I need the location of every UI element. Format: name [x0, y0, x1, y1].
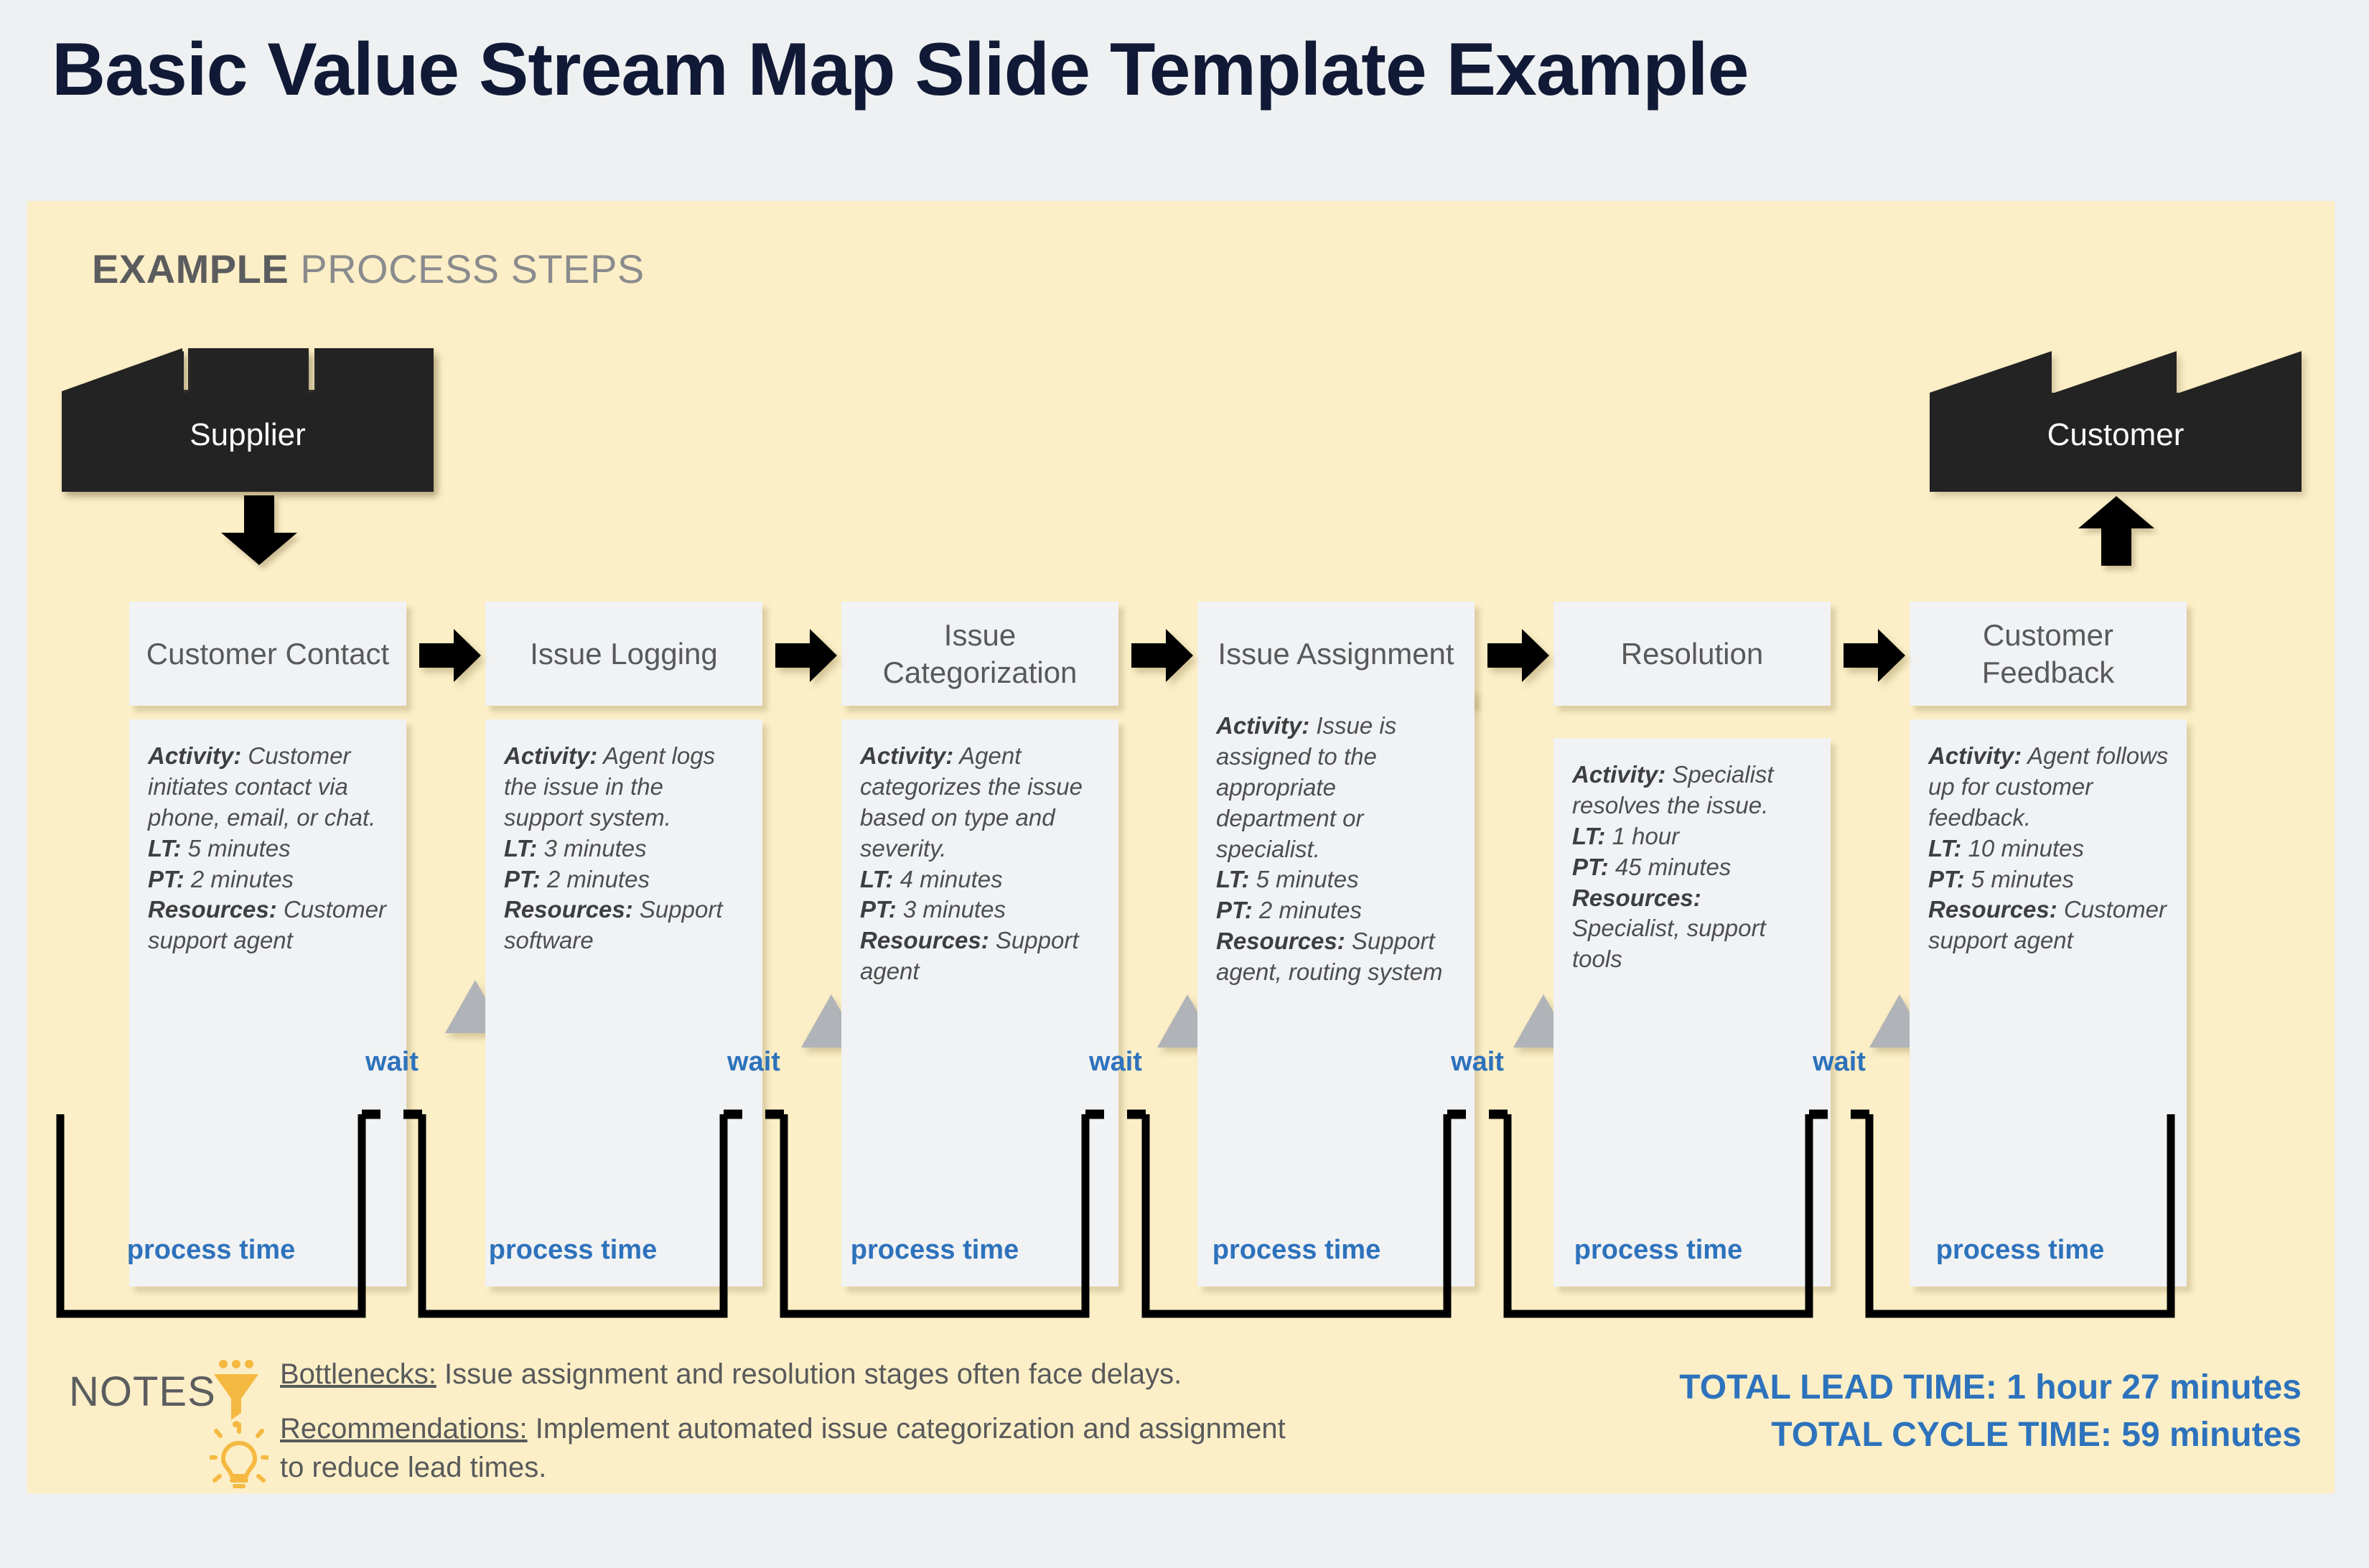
detail-activity: Activity: Issue is assigned to the appro…	[1216, 711, 1457, 864]
detail-lt-text: 3 minutes	[537, 835, 646, 862]
flow-arrow-1	[419, 629, 481, 682]
process-time-label-2: process time	[422, 1235, 724, 1266]
notes-heading: NOTES	[69, 1368, 216, 1416]
detail-resources-text: Specialist, support tools	[1572, 915, 1766, 972]
detail-lt-label: LT:	[148, 835, 181, 862]
detail-pt-text: 2 minutes	[184, 866, 294, 892]
detail-pt-text: 45 minutes	[1609, 854, 1732, 880]
detail-lt-label: LT:	[1216, 866, 1249, 892]
detail-activity-label: Activity:	[1572, 761, 1665, 788]
note-body: Issue assignment and resolution stages o…	[436, 1358, 1182, 1390]
detail-activity-label: Activity:	[1216, 712, 1309, 739]
detail-lt: LT: 4 minutes	[860, 864, 1101, 895]
step-box-issue-categorization[interactable]: Issue Categorization	[841, 602, 1118, 706]
timeline-ladder: wait wait wait wait wait process time pr…	[27, 1098, 2335, 1343]
step-box-issue-logging[interactable]: Issue Logging	[485, 602, 762, 706]
detail-lt: LT: 5 minutes	[148, 834, 389, 864]
detail-resources-label: Resources:	[148, 896, 277, 923]
wait-label-2: wait	[704, 1047, 804, 1078]
detail-resources: Resources: Support agent	[860, 925, 1101, 987]
total-lead-time: TOTAL LEAD TIME: 1 hour 27 minutes	[1679, 1364, 2302, 1411]
process-time-label-4: process time	[1146, 1235, 1447, 1266]
detail-activity-label: Activity:	[860, 742, 953, 769]
section-heading-light: PROCESS STEPS	[289, 246, 645, 291]
detail-lt: LT: 1 hour	[1572, 821, 1813, 852]
detail-activity: Activity: Agent logs the issue in the su…	[504, 741, 745, 834]
flow-arrow-4	[1487, 629, 1549, 682]
detail-activity: Activity: Customer initiates contact via…	[148, 741, 389, 834]
step-title: Customer Feedback	[1917, 617, 2179, 690]
arrow-right-icon	[1487, 629, 1549, 682]
supplier-flow-arrow	[220, 495, 299, 566]
detail-lt-label: LT:	[1572, 823, 1605, 849]
detail-pt-label: PT:	[1572, 854, 1609, 880]
detail-lt-label: LT:	[1928, 835, 1961, 862]
arrow-right-icon	[775, 629, 837, 682]
step-title: Issue Categorization	[849, 617, 1111, 690]
arrow-right-icon	[1131, 629, 1193, 682]
flow-arrow-3	[1131, 629, 1193, 682]
detail-lt-text: 5 minutes	[1249, 866, 1358, 892]
detail-resources: Resources: Support agent, routing system	[1216, 926, 1457, 988]
process-time-label-3: process time	[784, 1235, 1085, 1266]
detail-lt-text: 10 minutes	[1961, 835, 2084, 862]
process-time-label-1: process time	[60, 1235, 362, 1266]
page-title: Basic Value Stream Map Slide Template Ex…	[52, 27, 1748, 113]
flow-arrow-5	[1844, 629, 1905, 682]
total-cycle-time: TOTAL CYCLE TIME: 59 minutes	[1679, 1411, 2302, 1459]
arrow-right-icon	[419, 629, 481, 682]
square-wave-icon	[27, 1098, 2335, 1343]
wait-label-3: wait	[1065, 1047, 1166, 1078]
customer-label: Customer	[1930, 417, 2302, 453]
detail-resources-label: Resources:	[1928, 896, 2057, 923]
detail-pt: PT: 2 minutes	[1216, 895, 1457, 926]
detail-resources: Resources: Support software	[504, 895, 745, 956]
detail-resources-label: Resources:	[504, 896, 633, 923]
section-heading-bold: EXAMPLE	[92, 246, 289, 291]
step-title: Resolution	[1621, 635, 1763, 672]
customer-factory[interactable]: Customer	[1930, 348, 2302, 492]
detail-pt: PT: 3 minutes	[860, 895, 1101, 925]
note-recommendations: Recommendations: Implement automated iss…	[280, 1410, 1299, 1487]
detail-lt-text: 1 hour	[1605, 823, 1679, 849]
detail-pt-label: PT:	[860, 896, 897, 923]
slide-canvas: Basic Value Stream Map Slide Template Ex…	[0, 0, 2369, 1568]
detail-pt-text: 3 minutes	[897, 896, 1006, 923]
arrow-right-icon	[1844, 629, 1905, 682]
notes-lightbulb-icon-wrap	[210, 1422, 268, 1493]
detail-pt-text: 2 minutes	[541, 866, 650, 892]
notes-funnel-icon-wrap	[208, 1358, 264, 1427]
detail-pt-label: PT:	[148, 866, 184, 892]
flow-arrow-2	[775, 629, 837, 682]
detail-activity-label: Activity:	[504, 742, 597, 769]
detail-lt: LT: 3 minutes	[504, 834, 745, 864]
detail-pt-label: PT:	[1216, 897, 1253, 923]
step-box-resolution[interactable]: Resolution	[1553, 602, 1831, 706]
arrow-down-icon	[220, 495, 299, 566]
detail-lt-text: 4 minutes	[893, 866, 1002, 892]
detail-lt-label: LT:	[860, 866, 893, 892]
detail-pt: PT: 45 minutes	[1572, 852, 1813, 883]
note-term: Bottlenecks:	[280, 1358, 436, 1390]
detail-pt-text: 2 minutes	[1253, 897, 1362, 923]
step-title: Issue Assignment	[1218, 635, 1454, 672]
detail-resources-label: Resources:	[860, 927, 989, 953]
detail-resources-label: Resources:	[1572, 885, 1701, 911]
arrow-up-icon	[2077, 495, 2156, 566]
process-time-label-5: process time	[1508, 1235, 1809, 1266]
detail-lt-label: LT:	[504, 835, 537, 862]
detail-resources: Resources: Customer support agent	[1928, 895, 2169, 956]
value-stream-map-panel: EXAMPLE PROCESS STEPS Supplier Customer	[27, 201, 2335, 1493]
note-bottlenecks: Bottlenecks: Issue assignment and resolu…	[280, 1355, 1500, 1394]
supplier-factory[interactable]: Supplier	[62, 348, 434, 492]
detail-pt-text: 5 minutes	[1965, 866, 2074, 892]
step-box-customer-feedback[interactable]: Customer Feedback	[1910, 602, 2187, 706]
detail-activity: Activity: Agent categorizes the issue ba…	[860, 741, 1101, 864]
note-term: Recommendations:	[280, 1413, 528, 1445]
wait-label-1: wait	[342, 1047, 442, 1078]
detail-lt-text: 5 minutes	[181, 835, 290, 862]
detail-activity: Activity: Agent follows up for customer …	[1928, 741, 2169, 834]
wait-label-5: wait	[1789, 1047, 1889, 1078]
customer-flow-arrow	[2077, 495, 2156, 566]
detail-lt: LT: 5 minutes	[1216, 864, 1457, 895]
detail-pt-label: PT:	[1928, 866, 1965, 892]
detail-pt: PT: 5 minutes	[1928, 864, 2169, 895]
wait-label-4: wait	[1427, 1047, 1528, 1078]
supplier-label: Supplier	[62, 417, 434, 453]
detail-lt: LT: 10 minutes	[1928, 834, 2169, 864]
detail-pt: PT: 2 minutes	[148, 864, 389, 895]
step-title: Customer Contact	[146, 635, 389, 672]
section-heading: EXAMPLE PROCESS STEPS	[92, 246, 645, 292]
detail-activity: Activity: Specialist resolves the issue.	[1572, 760, 1813, 821]
step-title: Issue Logging	[530, 635, 718, 672]
step-box-customer-contact[interactable]: Customer Contact	[129, 602, 406, 706]
totals-block: TOTAL LEAD TIME: 1 hour 27 minutes TOTAL…	[1679, 1364, 2302, 1459]
detail-resources-label: Resources:	[1216, 928, 1345, 954]
detail-pt: PT: 2 minutes	[504, 864, 745, 895]
detail-activity-label: Activity:	[1928, 742, 2022, 769]
lightbulb-icon	[210, 1422, 268, 1493]
detail-resources: Resources: Specialist, support tools	[1572, 883, 1813, 976]
detail-resources: Resources: Customer support agent	[148, 895, 389, 956]
detail-pt-label: PT:	[504, 866, 541, 892]
detail-activity-label: Activity:	[148, 742, 241, 769]
process-time-label-6: process time	[1869, 1235, 2171, 1266]
funnel-icon	[208, 1358, 264, 1427]
